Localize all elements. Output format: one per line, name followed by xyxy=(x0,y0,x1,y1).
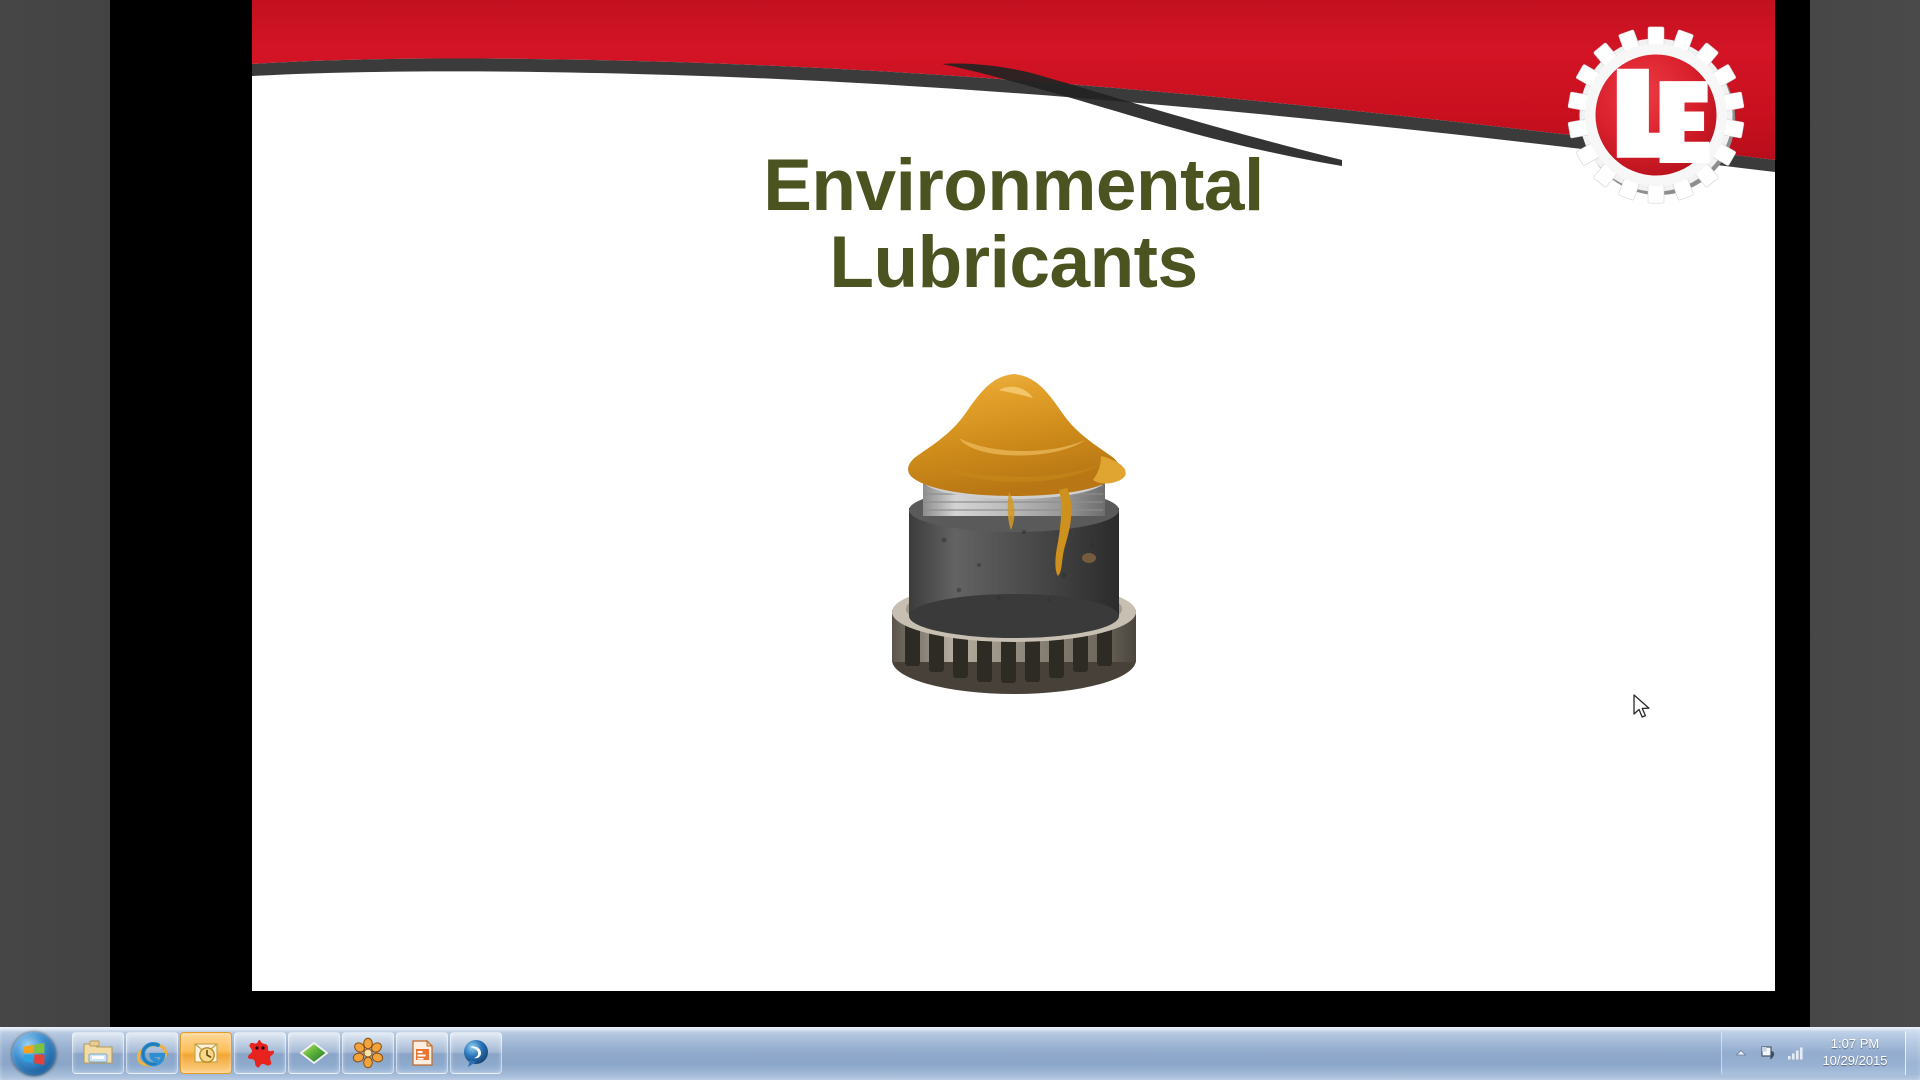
presentation-slide[interactable]: ® Environmental Lubricants xyxy=(252,0,1775,991)
taskbar-button-internet-explorer[interactable] xyxy=(126,1032,178,1074)
show-desktop-button[interactable] xyxy=(1905,1031,1920,1075)
title-line-2: Lubricants xyxy=(252,225,1775,302)
network-signal-icon[interactable] xyxy=(1786,1044,1804,1062)
outlook-icon xyxy=(189,1036,223,1070)
powerpoint-icon xyxy=(405,1036,439,1070)
system-tray[interactable]: 1:07 PM 10/29/2015 xyxy=(1721,1031,1905,1075)
orange-flower-icon xyxy=(351,1036,385,1070)
page-title: Environmental Lubricants xyxy=(252,148,1775,301)
clock[interactable]: 1:07 PM 10/29/2015 xyxy=(1813,1036,1897,1069)
taskbar-button-powerpoint[interactable] xyxy=(396,1032,448,1074)
clock-date: 10/29/2015 xyxy=(1817,1053,1893,1070)
taskbar-button-windows-explorer[interactable] xyxy=(72,1032,124,1074)
blue-bubble-icon xyxy=(459,1036,493,1070)
title-line-1: Environmental xyxy=(763,145,1264,226)
internet-explorer-icon xyxy=(135,1036,169,1070)
action-center-flag-icon[interactable] xyxy=(1759,1044,1777,1062)
slideshow-letterbox: ® Environmental Lubricants xyxy=(110,0,1810,1028)
green-diamond-icon xyxy=(297,1036,331,1070)
folder-icon xyxy=(81,1036,115,1070)
red-splat-icon xyxy=(243,1036,277,1070)
taskbar-empty-area xyxy=(502,1028,1721,1080)
taskbar-button-outlook[interactable] xyxy=(180,1032,232,1074)
grease-on-bearing-photo xyxy=(849,360,1179,720)
taskbar-button-orange-flower-app[interactable] xyxy=(342,1032,394,1074)
windows-orb-icon[interactable] xyxy=(12,1032,56,1076)
show-hidden-icons-arrow[interactable] xyxy=(1732,1044,1750,1062)
taskbar-button-green-diamond-app[interactable] xyxy=(288,1032,340,1074)
taskbar-button-list[interactable] xyxy=(68,1028,502,1080)
taskbar-button-red-splat-app[interactable] xyxy=(234,1032,286,1074)
taskbar-button-webex-meeting[interactable] xyxy=(450,1032,502,1074)
windows-taskbar[interactable]: 1:07 PM 10/29/2015 xyxy=(0,1027,1920,1080)
start-button[interactable] xyxy=(0,1028,68,1080)
clock-time: 1:07 PM xyxy=(1817,1036,1893,1053)
